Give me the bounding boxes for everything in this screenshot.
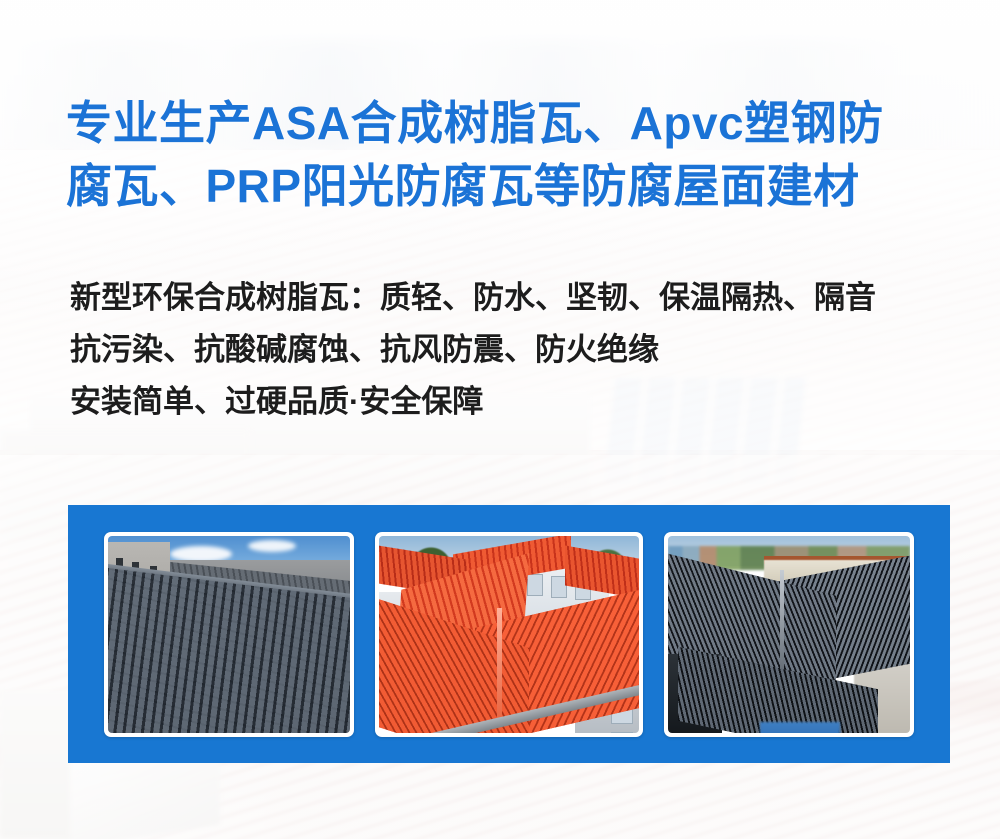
photo3-hip-ridge — [780, 570, 784, 682]
gallery-photo-black-resin-tile-roof[interactable] — [664, 532, 914, 737]
photo2-window — [527, 574, 543, 596]
photo3-blue-tarp — [760, 722, 840, 733]
subheadline: 新型环保合成树脂瓦：质轻、防水、坚韧、保温隔热、隔音 抗污染、抗酸碱腐蚀、抗风防… — [70, 272, 960, 428]
photo-gallery — [68, 505, 950, 763]
product-banner: 专业生产ASA合成树脂瓦、Apvc塑钢防 腐瓦、PRP阳光防腐瓦等防腐屋面建材 … — [0, 0, 1000, 839]
gallery-photo-1-image — [108, 536, 350, 733]
photo1-cloud — [248, 540, 296, 552]
photo2-hip-ridge — [497, 608, 502, 726]
photo2-window — [611, 732, 633, 733]
gallery-photo-red-resin-tile-roof[interactable] — [375, 532, 643, 737]
headline: 专业生产ASA合成树脂瓦、Apvc塑钢防 腐瓦、PRP阳光防腐瓦等防腐屋面建材 — [66, 92, 946, 218]
gallery-photo-3-image — [668, 536, 910, 733]
gallery-photo-grey-resin-tile-roof[interactable] — [104, 532, 354, 737]
gallery-photo-2-image — [379, 536, 639, 733]
